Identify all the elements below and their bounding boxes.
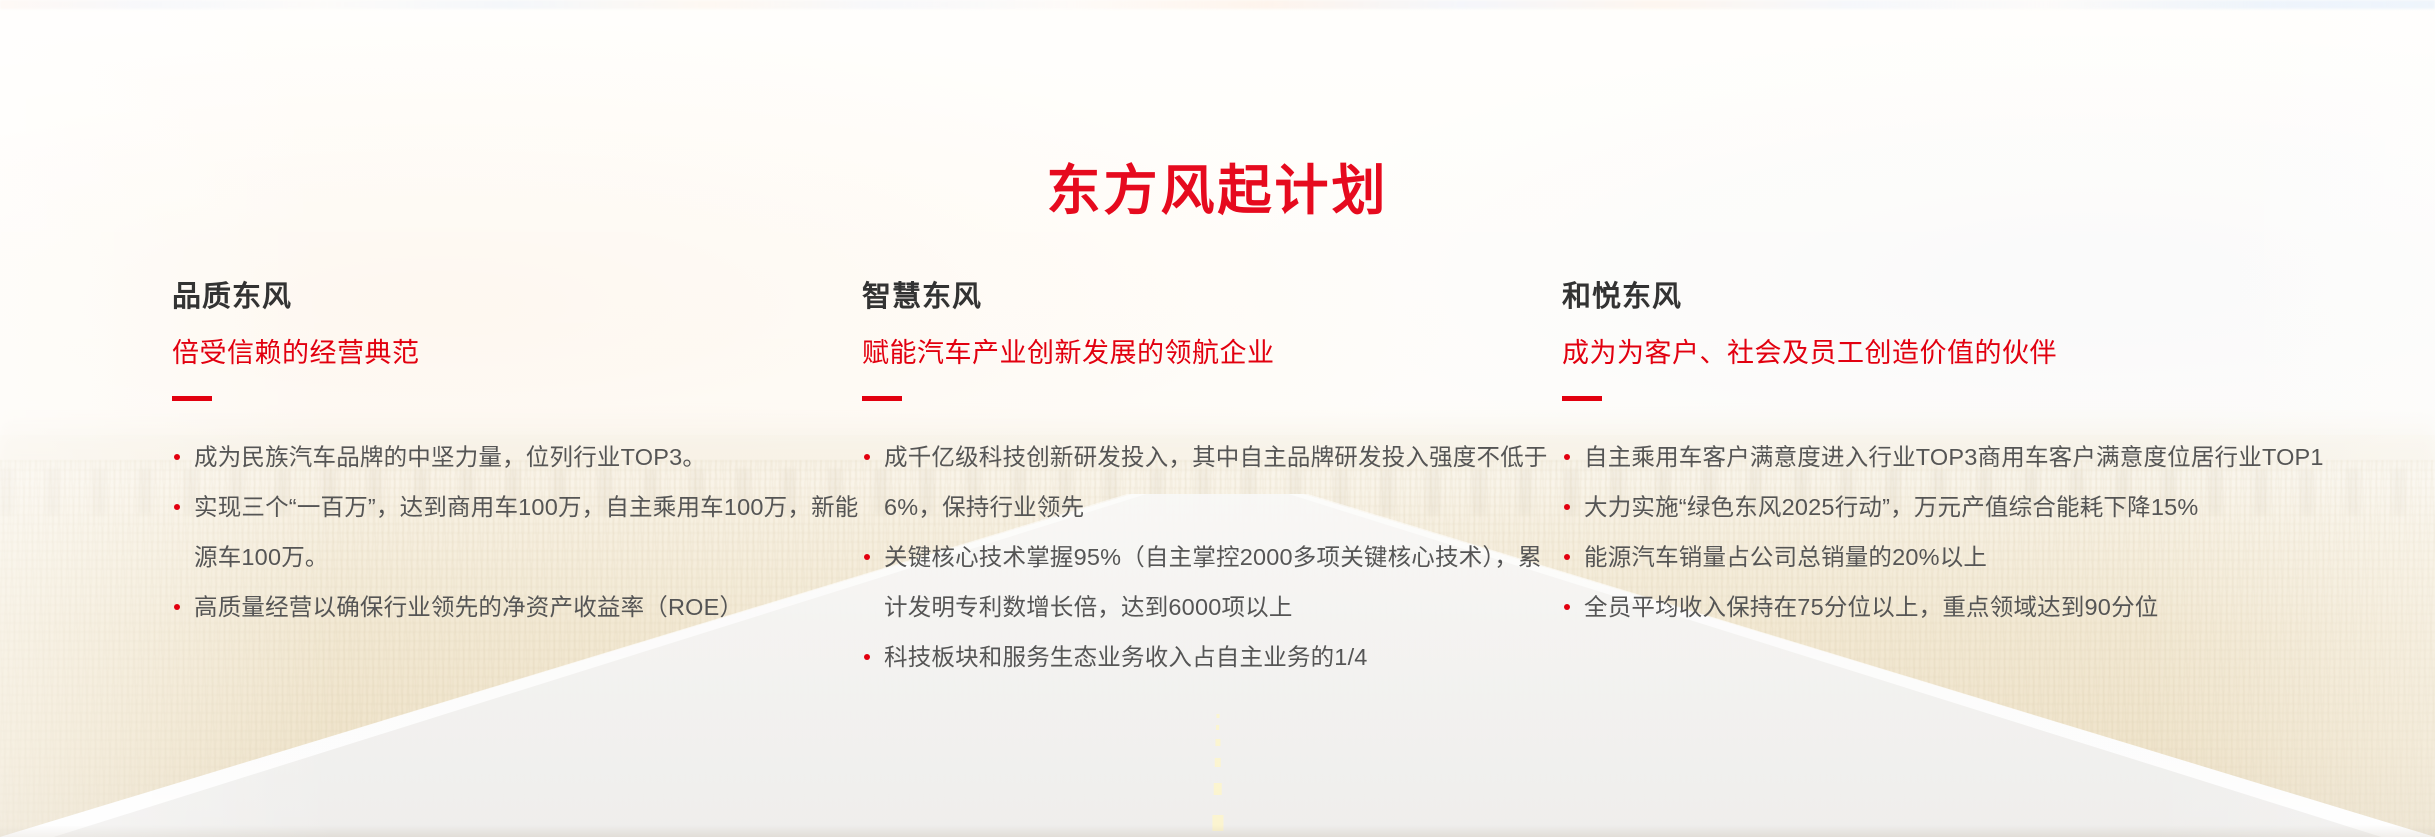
bullet-list: 成为民族汽车品牌的中坚力量，位列行业TOP3。 实现三个“一百万”，达到商用车1…: [172, 432, 862, 632]
bullet-dot-icon: [864, 554, 870, 560]
column-subheading: 赋能汽车产业创新发展的领航企业: [862, 340, 1562, 367]
list-item-text: 能源汽车销量占公司总销量的20%以上: [1584, 544, 1987, 570]
list-item: 大力实施“绿色东风2025行动”，万元产值综合能耗下降15%: [1562, 482, 2332, 532]
column-divider: [1562, 396, 1602, 401]
list-item-text: 科技板块和服务生态业务收入占自主业务的1/4: [884, 644, 1368, 670]
list-item: 全员平均收入保持在75分位以上，重点领域达到90分位: [1562, 582, 2332, 632]
list-item-text: 大力实施“绿色东风2025行动”，万元产值综合能耗下降15%: [1584, 494, 2198, 520]
column-subheading: 成为为客户、社会及员工创造价值的伙伴: [1562, 340, 2332, 367]
column-divider: [172, 396, 212, 401]
list-item-text: 关键核心技术掌握95%（自主掌控2000多项关键核心技术），累计发明专利数增长倍…: [884, 544, 1542, 620]
bullet-dot-icon: [864, 454, 870, 460]
column-heyue-dongfeng: 和悦东风 成为为客户、社会及员工创造价值的伙伴 自主乘用车客户满意度进入行业TO…: [1562, 283, 2332, 682]
list-item-text: 成为民族汽车品牌的中坚力量，位列行业TOP3。: [194, 444, 706, 470]
column-heading: 和悦东风: [1562, 283, 2332, 312]
column-pinzhi-dongfeng: 品质东风 倍受信赖的经营典范 成为民族汽车品牌的中坚力量，位列行业TOP3。 实…: [172, 283, 862, 682]
column-divider: [862, 396, 902, 401]
bullet-dot-icon: [174, 604, 180, 610]
bullet-dot-icon: [174, 454, 180, 460]
list-item: 科技板块和服务生态业务收入占自主业务的1/4: [862, 632, 1562, 682]
bullet-list: 成千亿级科技创新研发投入，其中自主品牌研发投入强度不低于6%，保持行业领先 关键…: [862, 432, 1562, 682]
list-item-text: 高质量经营以确保行业领先的净资产收益率（ROE）: [194, 594, 743, 620]
list-item-text: 成千亿级科技创新研发投入，其中自主品牌研发投入强度不低于6%，保持行业领先: [884, 444, 1548, 520]
bullet-dot-icon: [1564, 504, 1570, 510]
list-item-text: 实现三个“一百万”，达到商用车100万，自主乘用车100万，新能源车100万。: [194, 494, 858, 570]
list-item: 实现三个“一百万”，达到商用车100万，自主乘用车100万，新能源车100万。: [172, 482, 862, 582]
list-item: 关键核心技术掌握95%（自主掌控2000多项关键核心技术），累计发明专利数增长倍…: [862, 532, 1562, 632]
bullet-dot-icon: [174, 504, 180, 510]
column-subheading: 倍受信赖的经营典范: [172, 340, 862, 367]
list-item: 成为民族汽车品牌的中坚力量，位列行业TOP3。: [172, 432, 862, 482]
bullet-dot-icon: [1564, 554, 1570, 560]
list-item-text: 自主乘用车客户满意度进入行业TOP3商用车客户满意度位居行业TOP1: [1584, 444, 2324, 470]
slide-stage: 东方风起计划 品质东风 倍受信赖的经营典范 成为民族汽车品牌的中坚力量，位列行业…: [0, 0, 2435, 837]
slide-content: 东方风起计划 品质东风 倍受信赖的经营典范 成为民族汽车品牌的中坚力量，位列行业…: [0, 0, 2435, 837]
column-heading: 智慧东风: [862, 283, 1562, 312]
list-item: 自主乘用车客户满意度进入行业TOP3商用车客户满意度位居行业TOP1: [1562, 432, 2332, 482]
columns-container: 品质东风 倍受信赖的经营典范 成为民族汽车品牌的中坚力量，位列行业TOP3。 实…: [172, 283, 2332, 682]
column-heading: 品质东风: [172, 283, 862, 312]
page-title: 东方风起计划: [0, 164, 2435, 218]
list-item: 能源汽车销量占公司总销量的20%以上: [1562, 532, 2332, 582]
list-item-text: 全员平均收入保持在75分位以上，重点领域达到90分位: [1584, 594, 2158, 620]
list-item: 成千亿级科技创新研发投入，其中自主品牌研发投入强度不低于6%，保持行业领先: [862, 432, 1562, 532]
list-item: 高质量经营以确保行业领先的净资产收益率（ROE）: [172, 582, 862, 632]
column-zhihui-dongfeng: 智慧东风 赋能汽车产业创新发展的领航企业 成千亿级科技创新研发投入，其中自主品牌…: [862, 283, 1562, 682]
bullet-dot-icon: [864, 654, 870, 660]
bullet-list: 自主乘用车客户满意度进入行业TOP3商用车客户满意度位居行业TOP1 大力实施“…: [1562, 432, 2332, 632]
bullet-dot-icon: [1564, 604, 1570, 610]
bullet-dot-icon: [1564, 454, 1570, 460]
